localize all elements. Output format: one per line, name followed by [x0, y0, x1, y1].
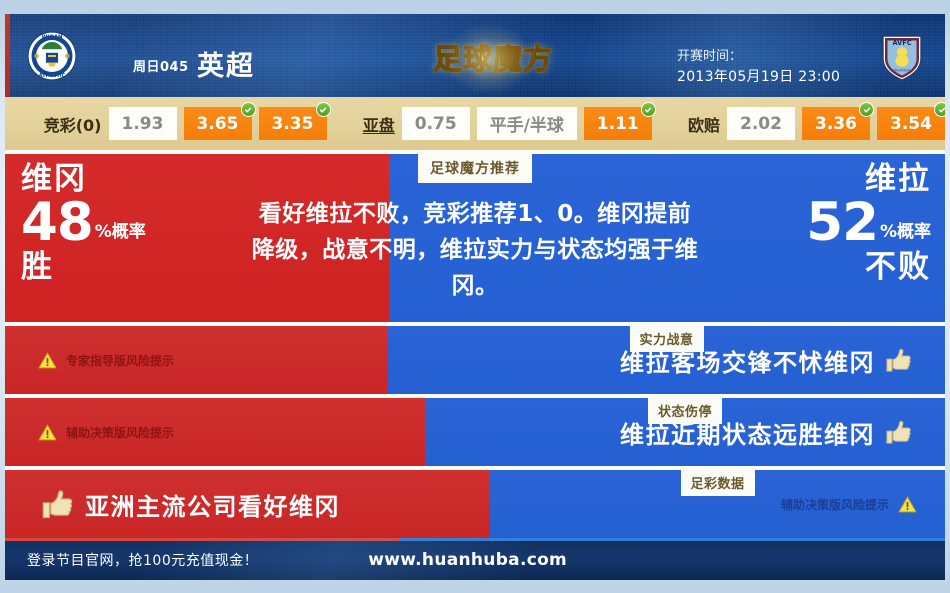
- home-outcome-word: 胜: [21, 252, 146, 283]
- away-percent-suffix: %概率: [880, 224, 931, 248]
- check-icon: [241, 102, 256, 117]
- svg-text:AVFC: AVFC: [892, 39, 911, 47]
- footer-site-url[interactable]: www.huanhuba.com: [368, 550, 567, 570]
- odds-value: 1.11: [597, 114, 639, 134]
- warning-icon: [898, 496, 917, 513]
- comparison-row-form: 辅助决策版风险提示 维拉近期状态远胜维冈 状态伤停: [5, 398, 945, 466]
- odds-value: 3.54: [890, 114, 932, 134]
- odds-value: 平手/半球: [490, 111, 564, 136]
- risk-notice: 辅助决策版风险提示: [38, 424, 174, 441]
- home-percent-row: 48 %概率: [21, 199, 146, 248]
- odds-group-label: 欧赔: [688, 112, 720, 136]
- home-percent-value: 48: [21, 199, 93, 248]
- row-left-panel: 专家指导版风险提示: [5, 326, 388, 394]
- odds-cell-draw[interactable]: 3.65: [184, 107, 252, 140]
- away-outcome-word: 不败: [806, 252, 931, 283]
- risk-notice-text: 辅助决策版风险提示: [781, 496, 889, 513]
- odds-bar: 竞彩(0) 1.93 3.65 3.35 亚盘 0.75 平手/半球: [5, 97, 945, 150]
- row-verdict: 亚洲主流公司看好维冈: [41, 487, 340, 522]
- thumbs-up-icon: [41, 488, 75, 521]
- odds-value: 2.02: [740, 114, 782, 134]
- odds-group-label: 亚盘: [363, 112, 395, 136]
- check-icon: [859, 102, 874, 117]
- odds-cell-draw[interactable]: 3.36: [802, 107, 870, 140]
- kickoff-time: 2013年05月19日 23:00: [677, 67, 840, 88]
- row-left-panel: 辅助决策版风险提示: [5, 398, 425, 466]
- row-tab: 实力战意: [629, 326, 703, 352]
- warning-icon: [38, 424, 57, 441]
- row-right-panel: 维拉客场交锋不怵维冈 实力战意: [388, 326, 945, 394]
- footer-promo-text: 登录节目官网，抢100元充值现金！: [27, 550, 258, 570]
- odds-group-label: 竞彩(0): [44, 112, 102, 136]
- match-preview-card: WIGAN ATHLETIC 周日045 英超 足球魔方 开赛时间： 2013年…: [5, 14, 945, 580]
- brand-logo: 足球魔方: [423, 36, 563, 78]
- away-team-crest-icon: AVFC PREPARED: [877, 31, 927, 81]
- check-icon: [641, 102, 656, 117]
- away-team-name: 维拉: [806, 164, 931, 195]
- risk-notice: 辅助决策版风险提示: [781, 496, 917, 513]
- svg-text:PREPARED: PREPARED: [894, 69, 911, 73]
- row-right-panel: 辅助决策版风险提示 足彩数据: [490, 470, 945, 538]
- odds-cell-home[interactable]: 1.93: [109, 107, 177, 140]
- svg-text:ATHLETIC: ATHLETIC: [39, 73, 66, 79]
- home-percent-suffix: %概率: [95, 224, 146, 248]
- odds-cell-home[interactable]: 2.02: [727, 107, 795, 140]
- row-right-panel: 维拉近期状态远胜维冈 状态伤停: [425, 398, 945, 466]
- odds-cell-handicap[interactable]: 平手/半球: [477, 107, 577, 140]
- probability-band: 维冈 48 %概率 胜 维拉 52 %概率 不败 足球魔方推荐 看好维拉不败，竞…: [5, 154, 945, 322]
- away-percent-value: 52: [806, 199, 878, 248]
- risk-notice-text: 辅助决策版风险提示: [66, 424, 174, 441]
- league-name: 英超: [197, 44, 255, 83]
- away-percent-row: 52 %概率: [806, 199, 931, 248]
- thumbs-up-icon: [885, 419, 913, 446]
- thumbs-up-icon: [885, 347, 913, 374]
- away-probability: 维拉 52 %概率 不败: [806, 164, 931, 283]
- recommendation-text: 看好维拉不败，竞彩推荐1、0。维冈提前降级，战意不明，维拉实力与状态均强于维冈。: [248, 196, 703, 304]
- home-team-crest-icon: WIGAN ATHLETIC: [27, 31, 77, 81]
- odds-value: 3.65: [197, 114, 239, 134]
- kickoff-label: 开赛时间：: [677, 46, 840, 67]
- odds-value: 3.35: [272, 114, 314, 134]
- footer-bar: 登录节目官网，抢100元充值现金！ www.huanhuba.com: [5, 538, 945, 580]
- home-team-name: 维冈: [21, 164, 146, 195]
- odds-group-european: 欧赔 2.02 3.36 3.54: [688, 107, 945, 140]
- odds-cell-home[interactable]: 0.75: [402, 107, 470, 140]
- check-icon: [316, 102, 331, 117]
- odds-value: 1.93: [122, 114, 164, 134]
- odds-group-asian: 亚盘 0.75 平手/半球 1.11: [363, 107, 652, 140]
- odds-value: 0.75: [415, 114, 457, 134]
- odds-cell-away[interactable]: 3.54: [877, 107, 945, 140]
- home-probability: 维冈 48 %概率 胜: [21, 164, 146, 283]
- kickoff-info: 开赛时间： 2013年05月19日 23:00: [677, 46, 840, 88]
- odds-cell-away[interactable]: 3.35: [259, 107, 327, 140]
- odds-value: 3.36: [815, 114, 857, 134]
- risk-notice-text: 专家指导版风险提示: [66, 352, 174, 369]
- recommendation-tab: 足球魔方推荐: [418, 154, 532, 183]
- brand-logo-text: 足球魔方: [433, 36, 553, 78]
- comparison-row-strength: 专家指导版风险提示 维拉客场交锋不怵维冈 实力战意: [5, 326, 945, 394]
- match-number-label: 周日045: [133, 56, 189, 75]
- row-left-panel: 亚洲主流公司看好维冈: [5, 470, 490, 538]
- risk-notice: 专家指导版风险提示: [38, 352, 174, 369]
- odds-group-jingcai: 竞彩(0) 1.93 3.65 3.35: [44, 107, 327, 140]
- warning-icon: [38, 352, 57, 369]
- row-tab: 状态伤停: [648, 398, 722, 424]
- check-icon: [934, 102, 945, 117]
- row-tab: 足彩数据: [680, 470, 754, 496]
- row-verdict-text: 亚洲主流公司看好维冈: [85, 487, 340, 522]
- header: WIGAN ATHLETIC 周日045 英超 足球魔方 开赛时间： 2013年…: [5, 14, 945, 97]
- comparison-row-betting-data: 亚洲主流公司看好维冈 辅助决策版风险提示 足彩数据: [5, 470, 945, 538]
- svg-text:WIGAN: WIGAN: [41, 35, 63, 41]
- odds-cell-away[interactable]: 1.11: [584, 107, 652, 140]
